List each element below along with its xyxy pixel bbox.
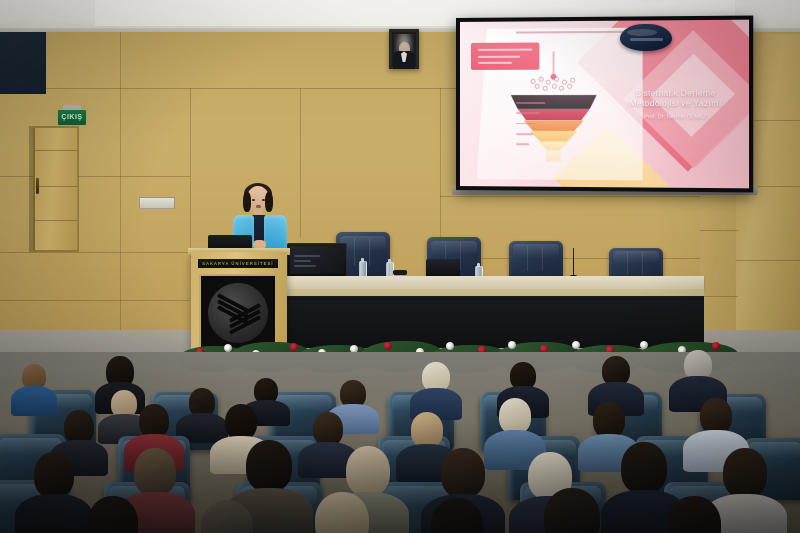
slide-title-line2: Metodolojisi ve Yazımı xyxy=(608,98,743,109)
wall-seam xyxy=(300,88,301,238)
presentation-slide: Sistematik Derleme Metodolojisi ve Yazım… xyxy=(460,20,749,189)
panel-chair[interactable] xyxy=(509,241,563,281)
speaker-eye xyxy=(252,199,255,201)
audience-person xyxy=(296,492,388,533)
lectern-monitor[interactable] xyxy=(208,235,252,249)
rose xyxy=(712,342,720,350)
speaker-eye xyxy=(262,199,265,201)
wall-seam xyxy=(700,230,738,231)
institution-logo-icon xyxy=(620,24,672,51)
rose xyxy=(508,341,516,349)
panel-desk-surface xyxy=(284,276,704,289)
rose xyxy=(290,343,298,351)
panel-monitor[interactable] xyxy=(287,243,347,277)
audience-person xyxy=(412,498,502,533)
audience-person xyxy=(182,500,272,533)
prisma-funnel-diagram xyxy=(511,51,597,167)
wall-seam xyxy=(0,300,190,301)
slide-presenter: Prof. Dr. Nermin ÖLMEZ xyxy=(608,114,743,121)
wall-seam xyxy=(700,296,738,297)
wall-portrait xyxy=(389,29,419,69)
panel-laptop[interactable] xyxy=(426,259,460,276)
wall-seam xyxy=(440,258,740,259)
table-microphone[interactable] xyxy=(573,248,574,278)
portrait-image xyxy=(394,34,414,64)
podium-nameplate: SAKARYA ÜNİVERSİTESİ xyxy=(198,259,278,268)
audience-person xyxy=(12,364,56,412)
rose xyxy=(446,342,454,350)
exit-door[interactable] xyxy=(33,128,78,250)
exit-sign-label: ÇIKIŞ xyxy=(61,114,82,121)
speaker-mouth xyxy=(256,205,261,208)
wall-plate xyxy=(139,197,175,209)
wall-dark-corner xyxy=(0,32,46,94)
speaker-hair-side xyxy=(265,192,273,212)
rose xyxy=(224,344,232,352)
wall-seam xyxy=(190,88,191,258)
auditorium-photo: ÇIKIŞ xyxy=(0,0,800,533)
projection-screen: Sistematik Derleme Metodolojisi ve Yazım… xyxy=(456,16,753,193)
slide-title-line1: Sistematik Derleme xyxy=(608,87,743,98)
speaker-hair-side xyxy=(243,192,251,212)
podium-nameplate-text: SAKARYA ÜNİVERSİTESİ xyxy=(202,261,273,266)
slide-title-block: Sistematik Derleme Metodolojisi ve Yazım… xyxy=(608,87,743,121)
exit-sign-icon: ÇIKIŞ xyxy=(58,110,86,125)
audience-person xyxy=(524,488,620,533)
funnel-dots xyxy=(530,76,578,92)
rose xyxy=(640,341,648,349)
door-handle[interactable] xyxy=(36,178,39,194)
audience-person xyxy=(648,496,740,533)
wall-seam xyxy=(0,252,190,253)
rose xyxy=(572,341,580,349)
wall-seam xyxy=(120,32,121,332)
rose xyxy=(384,342,392,350)
audience-person xyxy=(70,496,156,533)
wall-seam xyxy=(440,196,740,197)
desk-device[interactable] xyxy=(393,270,407,275)
audience-person xyxy=(412,362,460,414)
wall-seam xyxy=(736,260,800,261)
screen-surface: Sistematik Derleme Metodolojisi ve Yazım… xyxy=(460,20,749,189)
